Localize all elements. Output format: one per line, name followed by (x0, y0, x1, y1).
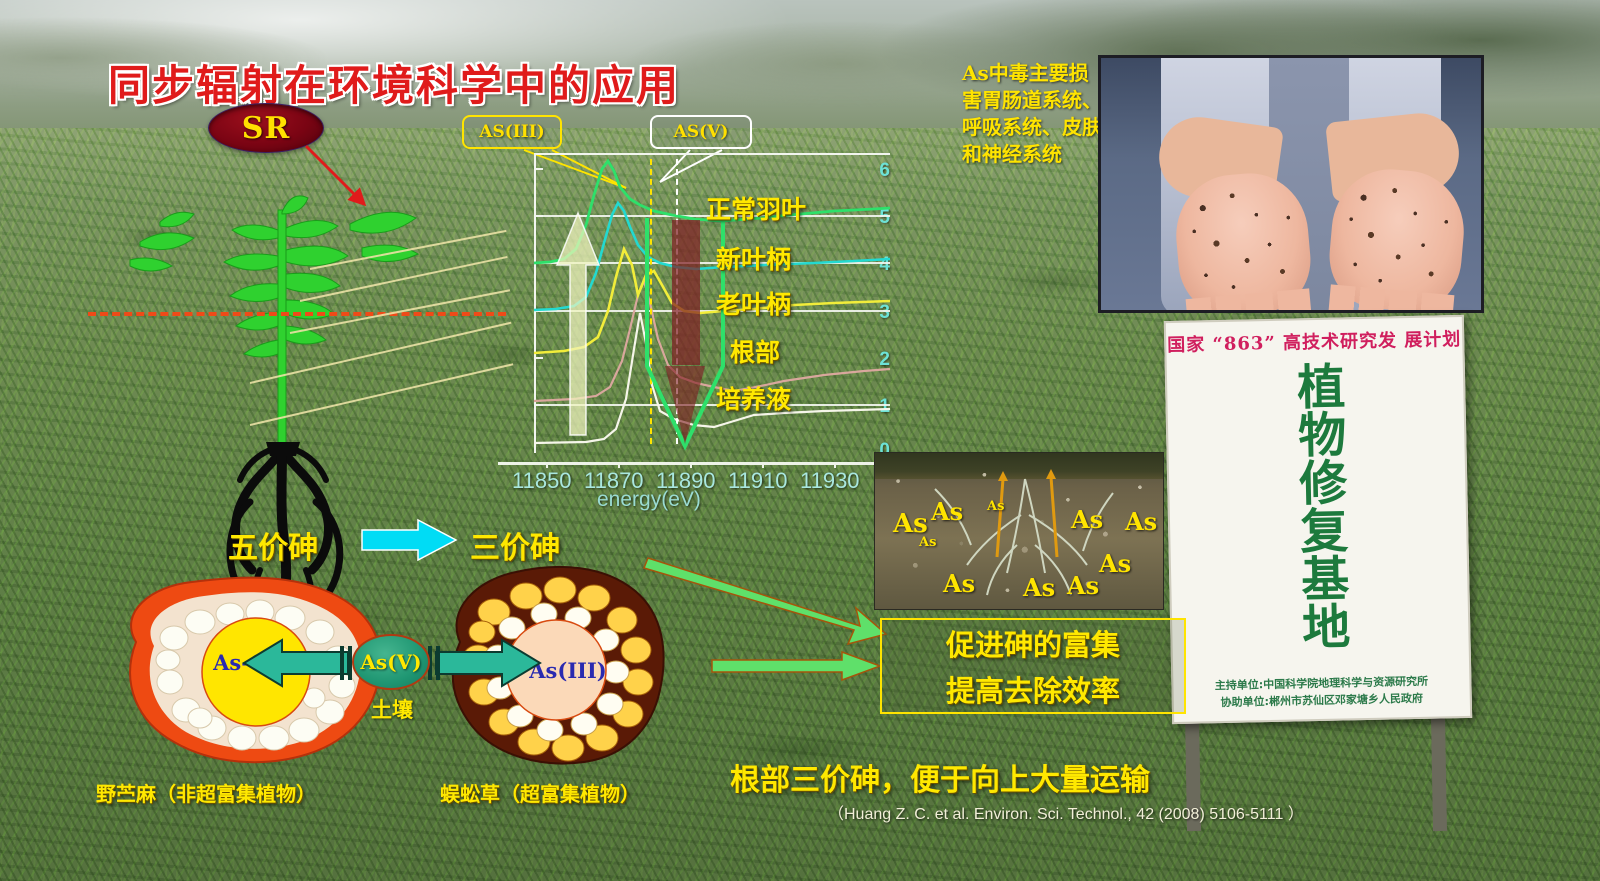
as-tag-6: As (1099, 549, 1131, 578)
callout-as3: AS(III) (462, 115, 562, 149)
page-title: 同步辐射在环境科学中的应用 (108, 52, 680, 113)
arsenic-keratosis-hands-photo (1098, 55, 1484, 313)
soil-surface-line (88, 312, 506, 316)
teal-arrow-left (244, 640, 354, 686)
as-tag-2: As (931, 497, 963, 526)
as-tag-5: As (1125, 507, 1157, 536)
x-tick-11910: 11910 (728, 468, 788, 494)
result-box: 促进砷的富集 提高去除效率 (880, 618, 1186, 714)
as-toxicity-note: As中毒主要损害胃肠道系统、呼吸系统、皮肤和神经系统 (962, 60, 1102, 168)
cyan-conversion-arrow (362, 520, 458, 562)
soil-species-badge: As(V) (352, 634, 430, 690)
sign-char-1: 植 (1297, 363, 1346, 412)
intensity-up-arrow (557, 213, 599, 435)
curve-label-culture-fluid: 培养液 (716, 380, 791, 416)
curve-label-root: 根部 (730, 333, 780, 369)
as-tag-3: As (919, 535, 936, 550)
phytoremediation-base-sign: 国家 “863” 高技术研究发 展计划 植 物 修 复 基 地 主持单位:中国科… (1164, 315, 1472, 724)
as-tag-4: As (1071, 505, 1103, 534)
sign-char-2: 物 (1298, 411, 1347, 460)
sign-post-right (1431, 716, 1447, 831)
as-tag-9: As (1067, 571, 1099, 600)
slide-canvas: 同步辐射在环境科学中的应用 SR (0, 0, 1600, 881)
as-tag-10: As (987, 499, 1004, 514)
label-pentavalent-arsenic: 五价砷 (228, 523, 318, 567)
green-arrow-horizontal (712, 652, 882, 684)
as-tag-8: As (1023, 573, 1055, 602)
curve-label-new-petiole: 新叶柄 (716, 240, 791, 276)
curve-label-normal-leaf: 正常羽叶 (706, 190, 806, 226)
sign-header: 国家 “863” 高技术研究发 展计划 (1166, 325, 1462, 357)
as-tag-7: As (943, 569, 975, 598)
bottom-conclusion: 根部三价砷，便于向上大量运输 (730, 755, 1150, 799)
sr-badge-label: SR (242, 111, 291, 146)
sign-footer: 主持单位:中国科学院地理科学与资源研究所 协助单位:郴州市苏仙区邓家塘乡人民政府 (1173, 673, 1470, 712)
x-tick-11930: 11930 (800, 468, 860, 494)
result-line-2: 提高去除效率 (946, 668, 1120, 710)
callout-as5: AS(V) (650, 115, 752, 149)
sign-char-4: 复 (1300, 507, 1349, 556)
chart-x-axis (498, 462, 890, 465)
x-axis-title: energy(eV) (597, 488, 701, 512)
green-arrow-diagonal (648, 548, 888, 658)
label-trivalent-arsenic: 三价砷 (470, 523, 560, 567)
curve-label-old-petiole: 老叶柄 (716, 285, 791, 321)
sign-char-6: 地 (1302, 603, 1351, 652)
citation: （Huang Z. C. et al. Environ. Sci. Techno… (828, 800, 1304, 824)
fern-plant-illustration (100, 150, 520, 490)
caption-right-plant: 蜈蚣草（超富集植物） (440, 778, 640, 807)
result-line-1: 促进砷的富集 (946, 622, 1120, 664)
sign-char-5: 基 (1301, 555, 1350, 604)
sign-main-text: 植 物 修 复 基 地 (1297, 363, 1351, 652)
caption-left-plant: 野苎麻（非超富集植物） (96, 778, 316, 807)
sign-char-3: 修 (1299, 459, 1348, 508)
root-soil-photo: As As As As As As As As As As (874, 452, 1164, 610)
x-tick-11850: 11850 (512, 468, 572, 494)
soil-label: 土壤 (357, 694, 427, 724)
teal-arrow-right (428, 640, 540, 686)
